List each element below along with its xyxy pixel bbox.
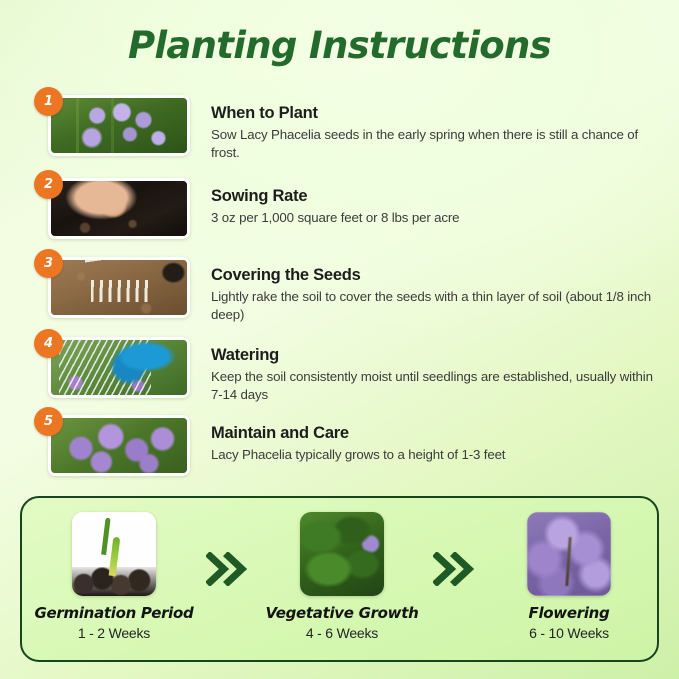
step-heading-1: When to Plant — [211, 104, 661, 123]
step-description-4: Keep the soil consistently moist until s… — [211, 368, 661, 403]
step-item-1: 1 When to Plant Sow Lacy Phacelia seeds … — [0, 95, 679, 173]
step-item-4: 4 Watering Keep the soil consistently mo… — [0, 337, 679, 415]
step-thumbnail-5: 5 — [48, 415, 190, 476]
watering-can-photo — [48, 337, 190, 398]
growth-timeline-panel: Germination Period 1 - 2 Weeks Vegetativ… — [20, 496, 659, 662]
step-item-3: 3 Covering the Seeds Lightly rake the so… — [0, 257, 679, 335]
step-text-5: Maintain and Care Lacy Phacelia typicall… — [211, 424, 661, 464]
step-text-2: Sowing Rate 3 oz per 1,000 square feet o… — [211, 187, 661, 227]
seedling-sprout-photo — [72, 512, 156, 596]
stage-label-flowering: Flowering — [489, 604, 649, 622]
step-heading-2: Sowing Rate — [211, 187, 661, 206]
step-description-3: Lightly rake the soil to cover the seeds… — [211, 288, 661, 323]
infographic-page: Planting Instructions 1 When to Plant So… — [0, 0, 679, 679]
timeline-stage-vegetative: Vegetative Growth 4 - 6 Weeks — [262, 512, 422, 641]
step-heading-3: Covering the Seeds — [211, 266, 661, 285]
step-number-badge-3: 3 — [34, 249, 63, 278]
stage-duration-vegetative: 4 - 6 Weeks — [262, 625, 422, 641]
phacelia-cluster-photo — [48, 415, 190, 476]
green-foliage-photo — [300, 512, 384, 596]
step-thumbnail-1: 1 — [48, 95, 190, 156]
step-heading-5: Maintain and Care — [211, 424, 661, 443]
step-number-badge-1: 1 — [34, 87, 63, 116]
step-number-badge-2: 2 — [34, 170, 63, 199]
step-text-1: When to Plant Sow Lacy Phacelia seeds in… — [211, 104, 661, 161]
step-thumbnail-2: 2 — [48, 178, 190, 239]
step-item-2: 2 Sowing Rate 3 oz per 1,000 square feet… — [0, 178, 679, 256]
step-heading-4: Watering — [211, 346, 661, 365]
stage-duration-flowering: 6 - 10 Weeks — [489, 625, 649, 641]
stage-label-vegetative: Vegetative Growth — [262, 604, 422, 622]
hand-sowing-seeds-photo — [48, 178, 190, 239]
step-item-5: 5 Maintain and Care Lacy Phacelia typica… — [0, 415, 679, 493]
stage-duration-germination: 1 - 2 Weeks — [34, 625, 194, 641]
step-thumbnail-4: 4 — [48, 337, 190, 398]
step-number-badge-5: 5 — [34, 407, 63, 436]
step-text-4: Watering Keep the soil consistently mois… — [211, 346, 661, 403]
step-description-1: Sow Lacy Phacelia seeds in the early spr… — [211, 126, 661, 161]
step-thumbnail-3: 3 — [48, 257, 190, 318]
step-description-2: 3 oz per 1,000 square feet or 8 lbs per … — [211, 209, 661, 227]
step-text-3: Covering the Seeds Lightly rake the soil… — [211, 266, 661, 323]
step-number-badge-4: 4 — [34, 329, 63, 358]
timeline-stage-flowering: Flowering 6 - 10 Weeks — [489, 512, 649, 641]
stage-label-germination: Germination Period — [34, 604, 194, 622]
step-description-5: Lacy Phacelia typically grows to a heigh… — [211, 446, 661, 464]
phacelia-flowers-photo — [48, 95, 190, 156]
double-chevron-right-icon-2 — [433, 552, 479, 586]
rake-on-soil-photo — [48, 257, 190, 318]
purple-flowering-photo — [527, 512, 611, 596]
page-title: Planting Instructions — [0, 24, 679, 67]
double-chevron-right-icon — [206, 552, 252, 586]
timeline-stage-germination: Germination Period 1 - 2 Weeks — [34, 512, 194, 641]
